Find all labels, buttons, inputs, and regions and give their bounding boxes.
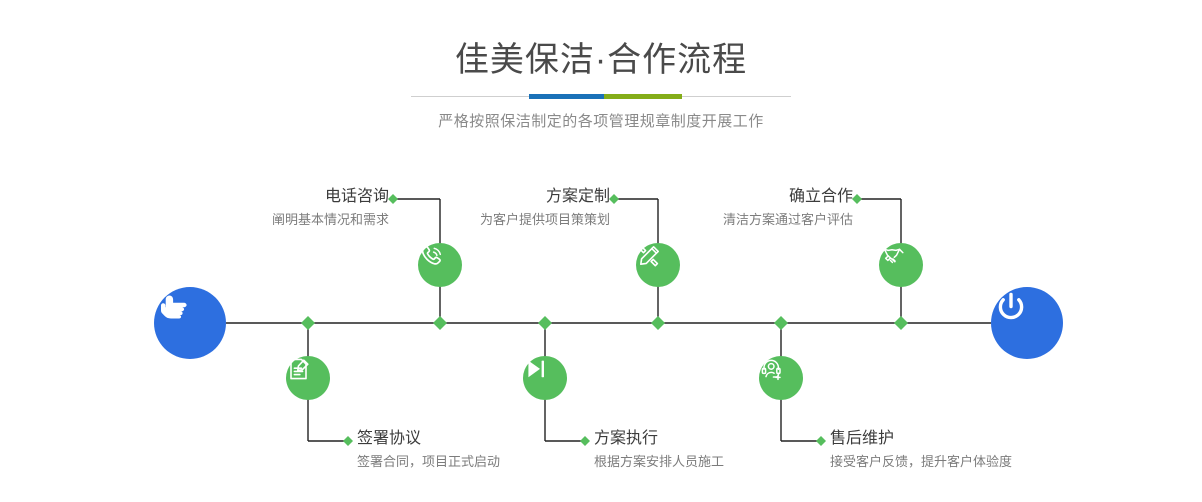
timeline-diamond-2 bbox=[433, 316, 447, 330]
step-icon-after-sales[interactable] bbox=[759, 356, 803, 400]
timeline-diamond-1 bbox=[301, 316, 315, 330]
step-label-plan-custom: 方案定制 为客户提供项目策策划 bbox=[480, 186, 610, 230]
label-diamond-top-1 bbox=[388, 194, 398, 204]
step-label-plan-execute: 方案执行 根据方案安排人员施工 bbox=[594, 428, 724, 472]
step-desc: 根据方案安排人员施工 bbox=[594, 452, 724, 472]
step-icon-sign-agreement[interactable] bbox=[286, 356, 330, 400]
timeline-diamond-4 bbox=[651, 316, 665, 330]
step-desc: 签署合同，项目正式启动 bbox=[357, 452, 500, 472]
timeline-diamond-5 bbox=[774, 316, 788, 330]
label-diamond-top-3 bbox=[852, 194, 862, 204]
step-label-establish-cooperation: 确立合作 清洁方案通过客户评估 bbox=[723, 186, 853, 230]
step-label-phone-consult: 电话咨询 阐明基本情况和需求 bbox=[272, 186, 389, 230]
label-diamond-bottom-1 bbox=[343, 436, 353, 446]
flowchart-page: 佳美保洁·合作流程 严格按照保洁制定的各项管理规章制度开展工作 bbox=[0, 0, 1202, 502]
step-icon-phone-consult[interactable] bbox=[418, 243, 462, 287]
step-label-after-sales: 售后维护 接受客户反馈，提升客户体验度 bbox=[830, 428, 1012, 472]
step-title: 方案执行 bbox=[594, 428, 724, 450]
step-title: 确立合作 bbox=[723, 186, 853, 208]
flow-end-node[interactable] bbox=[991, 287, 1063, 359]
step-title: 电话咨询 bbox=[272, 186, 389, 208]
step-desc: 为客户提供项目策策划 bbox=[480, 210, 610, 230]
step-title: 方案定制 bbox=[480, 186, 610, 208]
step-desc: 接受客户反馈，提升客户体验度 bbox=[830, 452, 1012, 472]
label-diamond-bottom-3 bbox=[816, 436, 826, 446]
step-desc: 阐明基本情况和需求 bbox=[272, 210, 389, 230]
step-icon-plan-custom[interactable] bbox=[636, 243, 680, 287]
process-flow-diagram: 电话咨询 阐明基本情况和需求 方案定制 为客户提供项目策策划 bbox=[0, 0, 1202, 502]
flow-start-node[interactable] bbox=[154, 287, 226, 359]
step-icon-establish-cooperation[interactable] bbox=[879, 243, 923, 287]
step-desc: 清洁方案通过客户评估 bbox=[723, 210, 853, 230]
step-label-sign-agreement: 签署协议 签署合同，项目正式启动 bbox=[357, 428, 500, 472]
step-icon-plan-execute[interactable] bbox=[523, 356, 567, 400]
timeline-diamond-3 bbox=[538, 316, 552, 330]
step-title: 签署协议 bbox=[357, 428, 500, 450]
step-title: 售后维护 bbox=[830, 428, 1012, 450]
label-diamond-bottom-2 bbox=[580, 436, 590, 446]
flow-connectors bbox=[0, 0, 1202, 502]
label-diamond-top-2 bbox=[609, 194, 619, 204]
timeline-diamond-6 bbox=[894, 316, 908, 330]
